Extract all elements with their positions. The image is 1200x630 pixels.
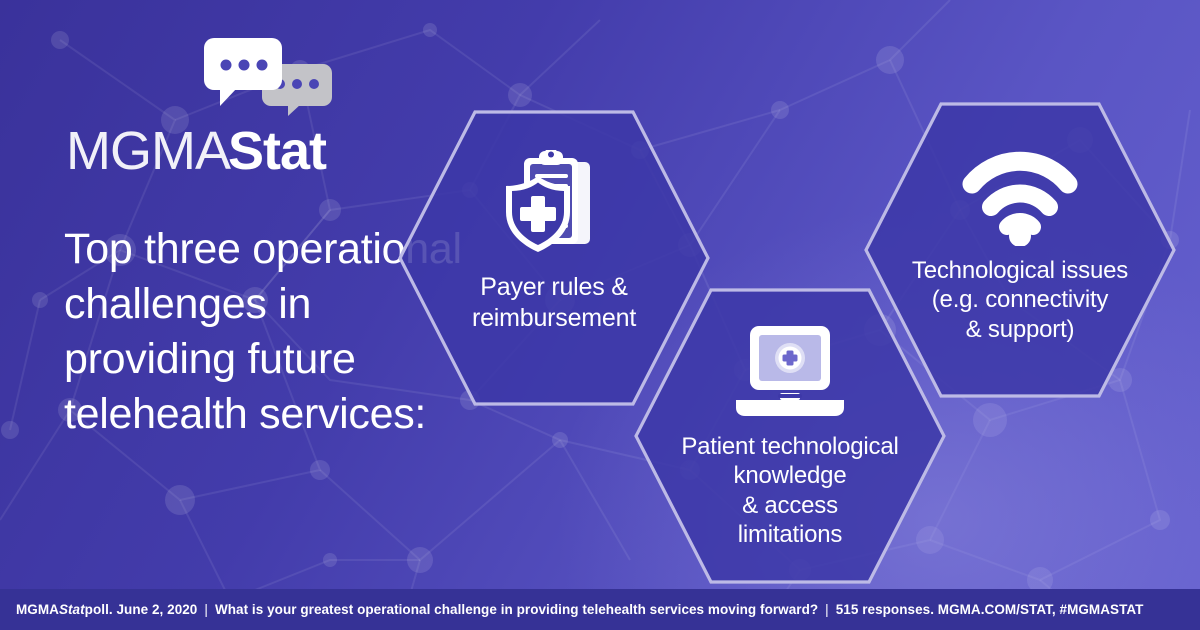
- footer-source-italic: Stat: [59, 602, 85, 617]
- logo-mgma-text: MGMA: [66, 121, 230, 181]
- clipboard-shield-medical-icon: [498, 108, 610, 256]
- logo-wordmark: MGMAStat: [66, 124, 326, 178]
- hex-label-payer-rules: Payer rules & reimbursement: [472, 272, 636, 333]
- wifi-icon: [962, 100, 1078, 246]
- footer-source-suffix: poll. June 2, 2020: [85, 602, 198, 617]
- footer-separator-1: |: [197, 602, 215, 617]
- hex-card-technological-issues[interactable]: Technological issues (e.g. connectivity …: [862, 100, 1178, 400]
- footer-source-bar: MGMA Stat poll. June 2, 2020 | What is y…: [0, 589, 1200, 630]
- speech-bubbles-icon: [204, 38, 334, 116]
- footer-question: What is your greatest operational challe…: [215, 602, 818, 617]
- mgma-stat-logo: MGMAStat: [66, 38, 366, 158]
- hex-label-technological-issues: Technological issues (e.g. connectivity …: [912, 256, 1128, 344]
- hex-label-patient-knowledge: Patient technological knowledge & access…: [681, 432, 898, 549]
- laptop-medical-cross-icon: [730, 286, 850, 420]
- footer-source-prefix: MGMA: [16, 602, 59, 617]
- logo-stat-text: Stat: [228, 121, 326, 181]
- footer-separator-2: |: [818, 602, 836, 617]
- footer-responses: 515 responses. MGMA.COM/STAT, #MGMASTAT: [836, 602, 1144, 617]
- infographic-canvas: MGMAStat Top three operational challenge…: [0, 0, 1200, 630]
